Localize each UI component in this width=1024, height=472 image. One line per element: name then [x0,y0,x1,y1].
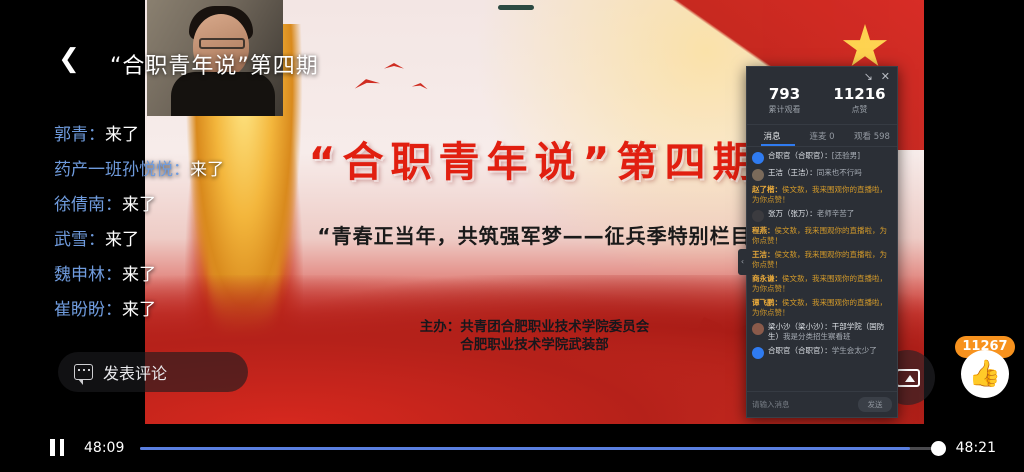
chat-panel-tabs: 消息 连麦 0 观看 598 [747,125,897,147]
chat-message: 王洁（王洁）：同来也不行吗 [752,168,892,181]
chat-input-row[interactable]: 请输入消息 发送 [747,391,897,417]
barrage-text: 来了 [190,160,224,180]
chat-body: 学生会太少了 [832,346,877,355]
send-button[interactable]: 发送 [858,397,892,412]
avatar [752,323,764,335]
chat-author: 张万（张万）： [768,209,817,218]
chat-message-list[interactable]: 合职官（合职官）：[还验男] 王洁（王洁）：同来也不行吗 赵了楷：侯文敖，我来围… [747,147,897,391]
total-time: 48:21 [956,440,996,456]
chat-message: 张万（张万）：老师辛苦了 [752,209,892,222]
cast-screen-icon [896,369,920,387]
comment-bubble-icon [74,364,93,380]
close-icon[interactable]: ✕ [881,71,890,82]
tab-messages[interactable]: 消息 [747,130,797,142]
barrage-text: 来了 [122,265,156,285]
barrage-overlay: 郭青：来了 药产一班孙悦悦：来了 徐倩南：来了 武雪：来了 魏申林：来了 崔盼盼… [54,118,354,328]
chat-body: 同来也不行吗 [817,168,862,177]
barrage-item: 郭青：来了 [54,118,354,153]
pip-person-glasses [199,38,245,49]
thumbs-up-icon: 👍 [961,350,1009,398]
chat-message-text: 张万（张万）：老师辛苦了 [768,209,854,219]
chat-body: [还验男] [832,151,860,160]
chevron-left-icon[interactable]: ❮ [58,48,80,70]
barrage-text: 来了 [105,230,139,250]
chat-message-text: 商永谦：侯文敖，我来围观你的直播啦，为你点赞！ [752,274,892,294]
barrage-author: 魏申林： [54,265,122,285]
like-button[interactable]: 11267 👍 [955,336,1015,410]
progress-thumb[interactable] [931,441,946,456]
chat-message-text: 赵了楷：侯文敖，我来围观你的直播啦，为你点赞！ [752,185,892,205]
barrage-item: 崔盼盼：来了 [54,293,354,328]
avatar [752,347,764,359]
chat-body: 老师辛苦了 [817,209,855,218]
chat-author: 王洁（王洁）： [768,168,817,177]
chat-message-text: 梁小沙（梁小沙）：干部学院（国防生）我是分类招生察看班 [768,322,892,342]
pip-person-body [171,72,275,116]
barrage-text: 来了 [122,195,156,215]
live-player-screen: “合职青年说”第四期 “青春正当年，共筑强军梦——征兵季特别栏目 主办：共青团合… [0,0,1024,472]
barrage-author: 武雪： [54,230,105,250]
player-controls: 48:09 48:21 [0,424,1024,472]
barrage-author: 徐倩南： [54,195,122,215]
barrage-author: 药产一班孙悦悦： [54,160,190,180]
barrage-item: 徐倩南：来了 [54,188,354,223]
chat-author: 合职官（合职官）： [768,346,832,355]
chat-panel[interactable]: ‹ ↘ ✕ 793 累计观看 11216 点赞 消息 连麦 0 观看 598 合 [746,66,898,418]
chat-message: 商永谦：侯文敖，我来围观你的直播啦，为你点赞！ [752,274,892,294]
chat-message-text: 王洁：侯文敖，我来围观你的直播啦，为你点赞！ [752,250,892,270]
chat-panel-collapse-handle[interactable]: ‹ [738,249,747,275]
chat-message: 合职官（合职官）：[还验男] [752,151,892,164]
chat-author: 王洁： [752,250,775,259]
avatar [752,169,764,181]
pause-icon[interactable] [50,439,64,456]
tab-connect[interactable]: 连麦 0 [797,130,847,142]
barrage-item: 武雪：来了 [54,223,354,258]
progress-fill [140,447,910,450]
stat-label: 累计观看 [747,104,822,115]
chat-message: 赵了楷：侯文敖，我来围观你的直播啦，为你点赞！ [752,185,892,205]
chat-panel-titlebar: ↘ ✕ [747,67,897,85]
minimize-icon[interactable]: ↘ [864,71,873,82]
barrage-item: 魏申林：来了 [54,258,354,293]
birds-decoration [350,55,470,101]
avatar [752,152,764,164]
barrage-author: 崔盼盼： [54,300,122,320]
chat-message-text: 谭飞鹏：侯文敖，我来围观你的直播啦，为你点赞！ [752,298,892,318]
post-comment-label: 发表评论 [103,360,167,384]
chat-panel-stats: 793 累计观看 11216 点赞 [747,85,897,125]
chat-message: 合职官（合职官）：学生会太少了 [752,346,892,359]
chat-author: 赵了楷： [752,185,782,194]
chat-message-text: 程燕：侯文敖，我来围观你的直播啦，为你点赞！ [752,226,892,246]
chat-message-text: 王洁（王洁）：同来也不行吗 [768,168,862,178]
barrage-text: 来了 [122,300,156,320]
chat-author: 合职官（合职官）： [768,151,832,160]
chat-message: 王洁：侯文敖，我来围观你的直播啦，为你点赞！ [752,250,892,270]
chat-input-field[interactable]: 请输入消息 [752,399,854,410]
stat-value: 793 [747,85,822,104]
chat-author: 程燕： [752,226,775,235]
chat-message-text: 合职官（合职官）：学生会太少了 [768,346,877,356]
stat-value: 11216 [822,85,897,104]
tab-active-underline [761,144,795,146]
chat-body: 我是分类招生察看班 [783,332,851,341]
post-comment-button[interactable]: 发表评论 [58,352,248,392]
tab-viewers[interactable]: 观看 598 [847,130,897,142]
current-time: 48:09 [84,440,124,456]
stat-likes: 11216 点赞 [822,85,897,124]
chat-author: 商永谦： [752,274,782,283]
progress-track[interactable] [140,447,934,450]
barrage-item: 药产一班孙悦悦：来了 [54,153,354,188]
chat-author: 谭飞鹏： [752,298,782,307]
avatar [752,210,764,222]
stat-views: 793 累计观看 [747,85,822,124]
stat-label: 点赞 [822,104,897,115]
webcam-pip[interactable] [147,0,283,116]
barrage-author: 郭青： [54,125,105,145]
chat-message: 梁小沙（梁小沙）：干部学院（国防生）我是分类招生察看班 [752,322,892,342]
chat-message: 谭飞鹏：侯文敖，我来围观你的直播啦，为你点赞！ [752,298,892,318]
chat-message: 程燕：侯文敖，我来围观你的直播啦，为你点赞！ [752,226,892,246]
barrage-text: 来了 [105,125,139,145]
chat-message-text: 合职官（合职官）：[还验男] [768,151,860,161]
